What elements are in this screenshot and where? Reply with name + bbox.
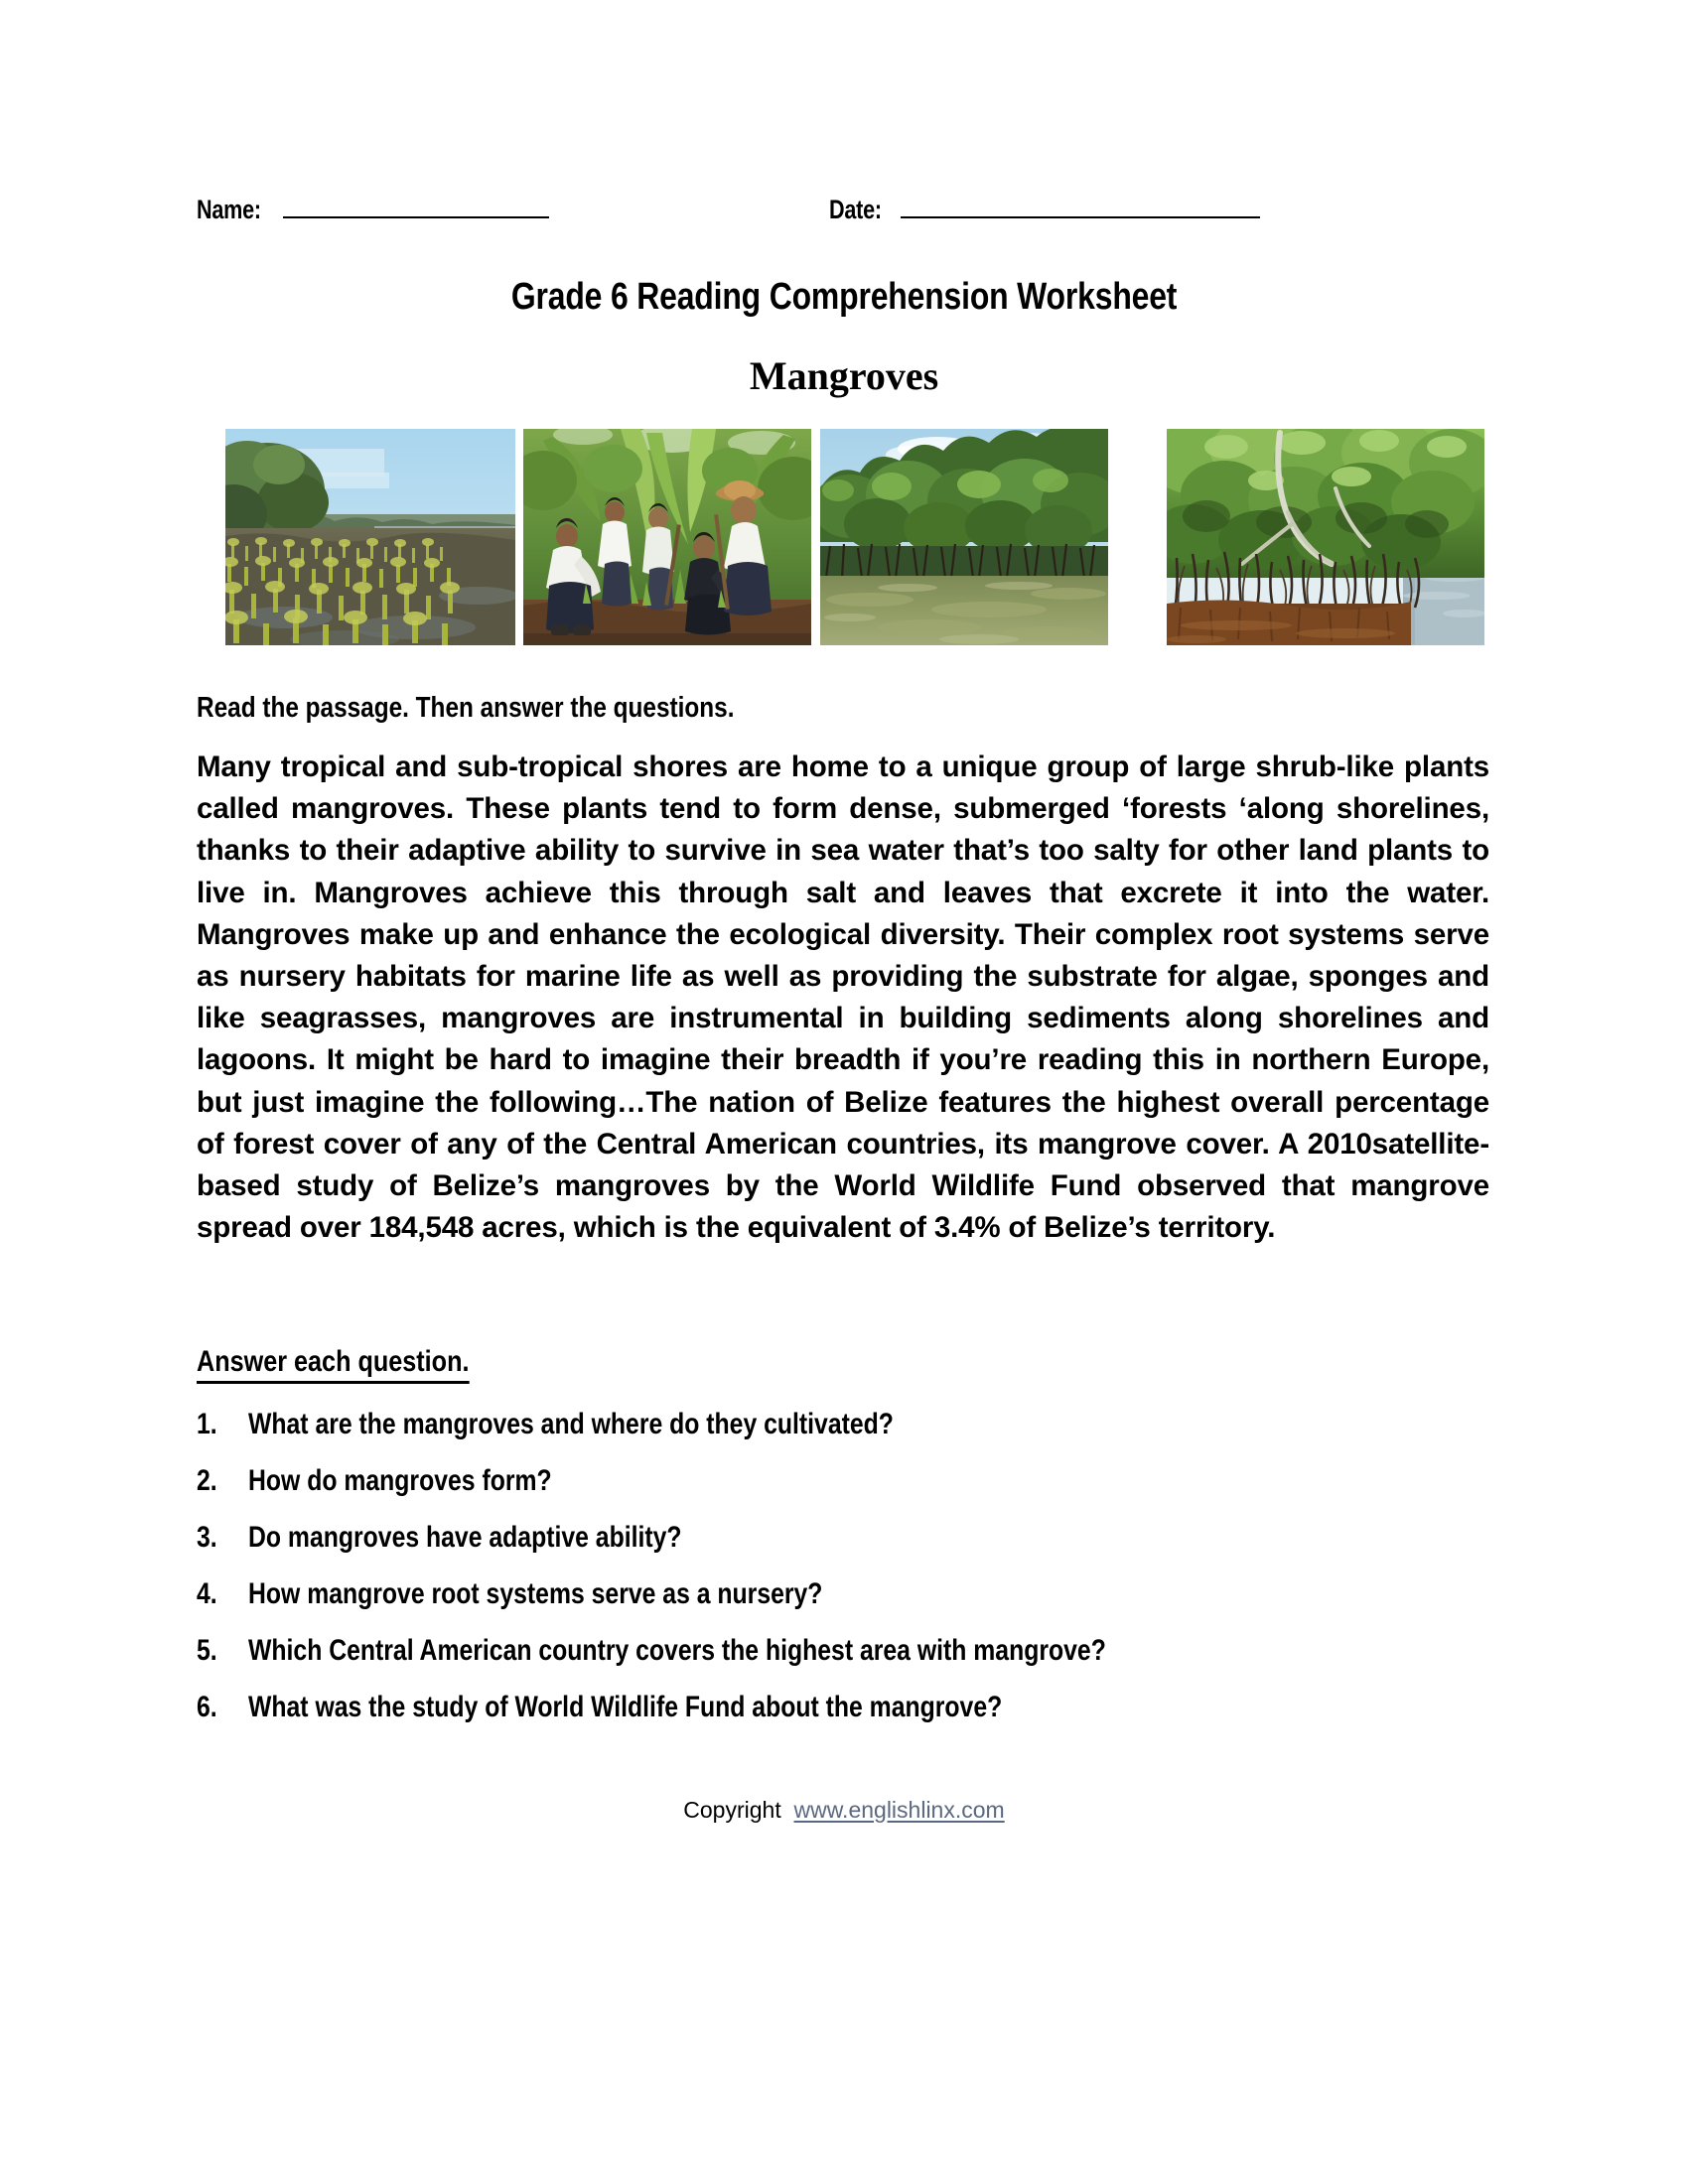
englishlinx-link[interactable]: www.englishlinx.com: [794, 1797, 1005, 1823]
question-number-5: 5.: [197, 1634, 248, 1668]
question-item-2: 2. How do mangroves form?: [197, 1464, 1487, 1521]
name-label: Name:: [197, 195, 261, 225]
question-text-4: How mangrove root systems serve as a nur…: [248, 1577, 932, 1611]
question-text-2: How do mangroves form?: [248, 1464, 610, 1498]
question-text-1: What are the mangroves and where do they…: [248, 1408, 1017, 1441]
worksheet-title-text: Grade 6 Reading Comprehension Worksheet: [511, 276, 1177, 319]
answer-section-heading-text: Answer each question.: [197, 1345, 469, 1384]
read-instruction-text: Read the passage. Then answer the questi…: [197, 692, 734, 725]
question-number-3: 3.: [197, 1521, 248, 1555]
mangrove-seedlings-photo: [225, 429, 515, 645]
reading-passage: Many tropical and sub-tropical shores ar…: [197, 747, 1489, 1249]
worksheet-page: Name: Date: Grade 6 Reading Comprehensio…: [0, 0, 1688, 2184]
question-number-6: 6.: [197, 1691, 248, 1724]
footer-copyright: Copyright www.englishlinx.com: [0, 1797, 1688, 1824]
name-blank-line[interactable]: [283, 195, 549, 218]
question-text-6: What was the study of World Wildlife Fun…: [248, 1691, 1146, 1724]
mangrove-forest-water-photo: [820, 429, 1108, 645]
student-info-header: Name: Date:: [197, 195, 1487, 234]
question-item-5: 5. Which Central American country covers…: [197, 1634, 1487, 1691]
question-number-1: 1.: [197, 1408, 248, 1441]
answer-section-heading: Answer each question.: [197, 1345, 521, 1384]
people-planting-mangroves-photo: [523, 429, 811, 645]
mangrove-photo-strip: [225, 429, 1484, 645]
read-instruction: Read the passage. Then answer the questi…: [197, 692, 837, 725]
passage-title: Mangroves: [0, 352, 1688, 399]
worksheet-title: Grade 6 Reading Comprehension Worksheet: [0, 276, 1688, 319]
question-item-6: 6. What was the study of World Wildlife …: [197, 1691, 1487, 1747]
name-field[interactable]: Name:: [197, 195, 549, 225]
date-blank-line[interactable]: [901, 195, 1260, 218]
question-text-5: Which Central American country covers th…: [248, 1634, 1269, 1668]
question-list: 1. What are the mangroves and where do t…: [197, 1408, 1487, 1747]
question-item-3: 3. Do mangroves have adaptive ability?: [197, 1521, 1487, 1577]
question-item-4: 4. How mangrove root systems serve as a …: [197, 1577, 1487, 1634]
question-item-1: 1. What are the mangroves and where do t…: [197, 1408, 1487, 1464]
date-field[interactable]: Date:: [829, 195, 1260, 225]
copyright-word: Copyright: [683, 1797, 780, 1823]
question-text-3: Do mangroves have adaptive ability?: [248, 1521, 765, 1555]
date-label: Date:: [829, 195, 882, 225]
question-number-4: 4.: [197, 1577, 248, 1611]
question-number-2: 2.: [197, 1464, 248, 1498]
mangrove-prop-roots-photo: [1167, 429, 1484, 645]
